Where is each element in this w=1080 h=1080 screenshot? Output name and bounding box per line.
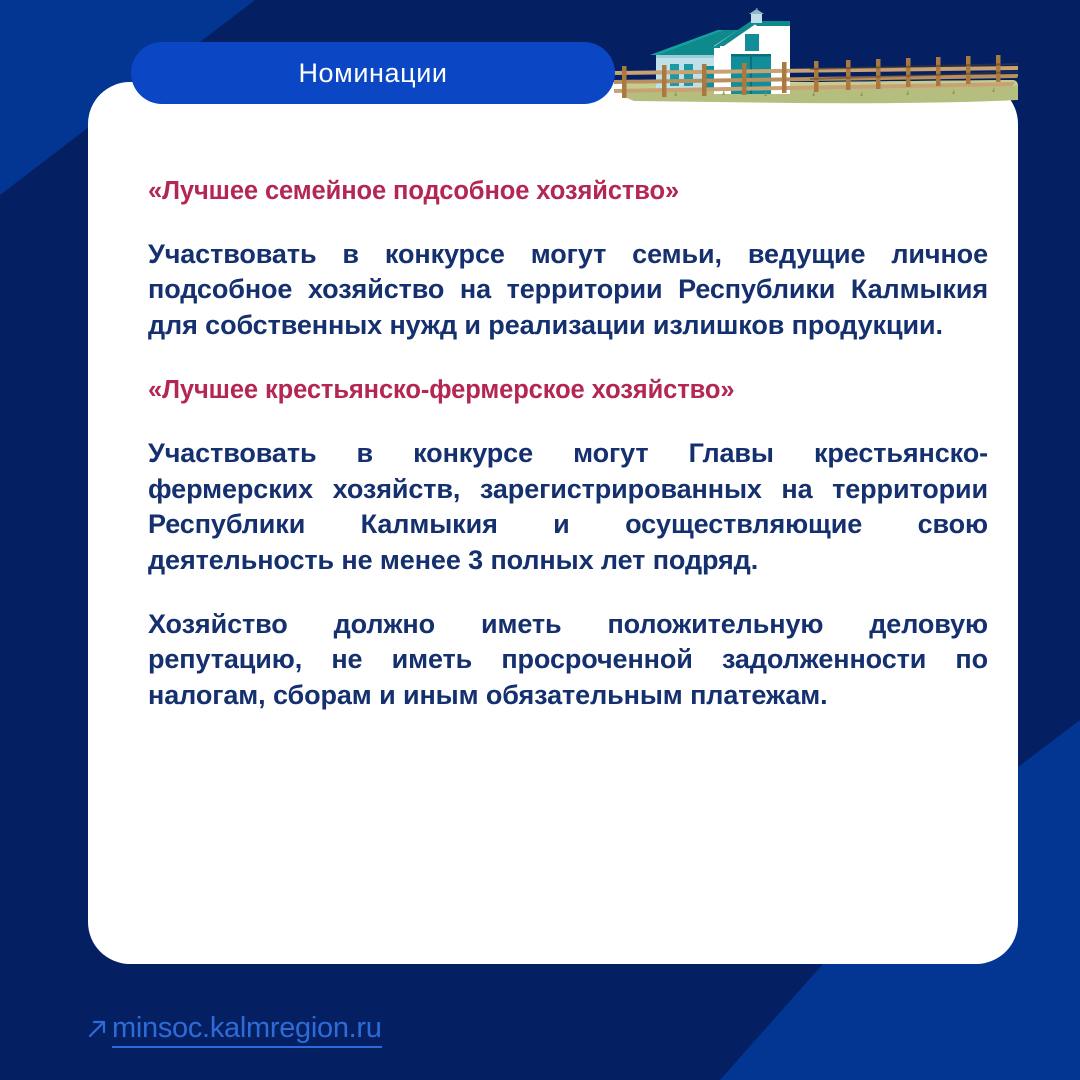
nomination-title-2: «Лучшее крестьянско-фермерское хозяйство…	[148, 375, 988, 406]
website-link-label: minsoc.kalmregion.ru	[112, 1012, 382, 1048]
nomination-paragraph-2-2: Хозяйство должно иметь положительную дел…	[148, 607, 988, 714]
arrow-up-right-icon	[86, 1016, 110, 1044]
nomination-paragraph-2-1: Участвовать в конкурсе могут Главы крест…	[148, 436, 988, 579]
section-header-label: Номинации	[298, 58, 447, 89]
nomination-paragraph-1-1: Участвовать в конкурсе могут семьи, веду…	[148, 237, 988, 344]
poster-canvas: Номинации	[0, 0, 1080, 1080]
website-link[interactable]: minsoc.kalmregion.ru	[86, 1012, 382, 1048]
section-header-pill: Номинации	[131, 42, 615, 104]
nominations-content: «Лучшее семейное подсобное хозяйство» Уч…	[148, 176, 988, 713]
nomination-title-1: «Лучшее семейное подсобное хозяйство»	[148, 176, 988, 207]
